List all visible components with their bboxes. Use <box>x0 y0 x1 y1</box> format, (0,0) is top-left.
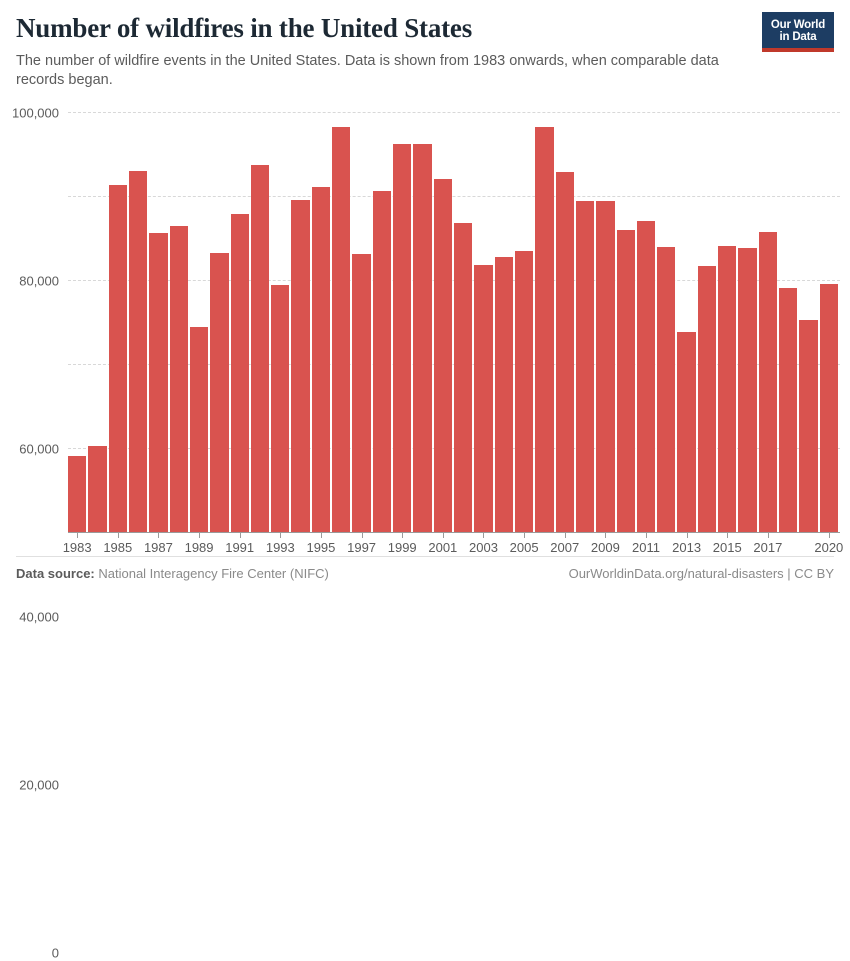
x-axis-tick-label: 1993 <box>266 540 295 555</box>
bar[interactable] <box>68 456 86 532</box>
x-axis-tick-label: 1999 <box>388 540 417 555</box>
x-axis-tick <box>687 532 688 538</box>
bar[interactable] <box>454 223 472 532</box>
chart-header: Number of wildfires in the United States… <box>16 12 756 90</box>
x-axis-tick <box>321 532 322 538</box>
x-axis-tick-label: 1997 <box>347 540 376 555</box>
x-axis-tick <box>77 532 78 538</box>
bar[interactable] <box>170 226 188 532</box>
x-axis-tick-label: 2013 <box>672 540 701 555</box>
x-axis-tick-label: 2005 <box>510 540 539 555</box>
x-axis-tick <box>240 532 241 538</box>
chart-footer: Data source: National Interagency Fire C… <box>16 566 834 581</box>
y-axis-tick-label: 0 <box>52 946 59 961</box>
bar[interactable] <box>617 230 635 532</box>
y-axis-tick-label: 60,000 <box>19 442 59 457</box>
bar[interactable] <box>373 191 391 532</box>
bar[interactable] <box>779 288 797 532</box>
page-title: Number of wildfires in the United States <box>16 12 756 44</box>
x-axis-tick <box>565 532 566 538</box>
chart-subtitle: The number of wildfire events in the Uni… <box>16 52 742 90</box>
footer-divider <box>16 556 834 557</box>
bar[interactable] <box>698 266 716 532</box>
x-axis-tick-label: 1983 <box>63 540 92 555</box>
x-axis-tick <box>158 532 159 538</box>
data-source: Data source: National Interagency Fire C… <box>16 566 329 581</box>
y-axis-tick-label: 100,000 <box>12 106 59 121</box>
owid-chart: Number of wildfires in the United States… <box>0 0 850 600</box>
bar[interactable] <box>129 171 147 532</box>
x-axis-tick <box>118 532 119 538</box>
x-axis-tick <box>443 532 444 538</box>
x-axis-tick-label: 1985 <box>103 540 132 555</box>
x-axis-tick-label: 2015 <box>713 540 742 555</box>
bar[interactable] <box>393 144 411 533</box>
bar[interactable] <box>657 247 675 532</box>
bar[interactable] <box>799 320 817 532</box>
x-axis-tick <box>727 532 728 538</box>
x-axis-tick-label: 2011 <box>632 540 660 555</box>
bar[interactable] <box>210 253 228 532</box>
data-source-value: National Interagency Fire Center (NIFC) <box>98 566 328 581</box>
logo-line-2: in Data <box>780 31 817 43</box>
bar[interactable] <box>515 251 533 532</box>
bar[interactable] <box>109 185 127 532</box>
x-axis-tick <box>605 532 606 538</box>
our-world-in-data-logo[interactable]: Our World in Data <box>762 12 834 52</box>
y-axis-tick-label: 40,000 <box>19 610 59 625</box>
bar[interactable] <box>190 327 208 532</box>
x-axis-tick-label: 2020 <box>814 540 843 555</box>
y-axis-tick-label: 80,000 <box>19 274 59 289</box>
logo-line-1: Our World <box>771 19 825 31</box>
attribution-link[interactable]: OurWorldinData.org/natural-disasters | C… <box>569 566 834 581</box>
x-axis-tick <box>829 532 830 538</box>
x-axis-tick-label: 2017 <box>753 540 782 555</box>
bar[interactable] <box>596 201 614 532</box>
bar[interactable] <box>312 187 330 532</box>
x-axis-tick <box>646 532 647 538</box>
bar[interactable] <box>474 265 492 532</box>
bar[interactable] <box>271 285 289 532</box>
bar[interactable] <box>738 248 756 532</box>
data-source-label: Data source: <box>16 566 95 581</box>
bar[interactable] <box>332 127 350 532</box>
x-axis-tick <box>402 532 403 538</box>
x-axis-tick-label: 2009 <box>591 540 620 555</box>
x-axis-tick <box>483 532 484 538</box>
x-axis-tick-label: 1995 <box>306 540 335 555</box>
x-axis: 1983198519871989199119931995199719992001… <box>68 532 840 556</box>
bar[interactable] <box>556 172 574 532</box>
x-axis-tick-label: 1991 <box>225 540 254 555</box>
bar[interactable] <box>759 232 777 532</box>
x-axis-tick <box>362 532 363 538</box>
bar[interactable] <box>495 257 513 532</box>
bar[interactable] <box>291 200 309 532</box>
x-axis-tick <box>280 532 281 538</box>
x-axis-tick <box>768 532 769 538</box>
bar[interactable] <box>434 179 452 532</box>
plot-area: 020,00040,00060,00080,000100,000 1983198… <box>0 103 850 555</box>
bar[interactable] <box>88 446 106 532</box>
bar[interactable] <box>231 214 249 532</box>
bar[interactable] <box>718 246 736 532</box>
bar[interactable] <box>677 332 695 532</box>
bar[interactable] <box>413 144 431 532</box>
bar[interactable] <box>149 233 167 532</box>
plot-inner: 020,00040,00060,00080,000100,000 <box>68 112 840 532</box>
x-axis-tick-label: 2003 <box>469 540 498 555</box>
x-axis-tick-label: 2007 <box>550 540 579 555</box>
bar[interactable] <box>535 127 553 532</box>
bar[interactable] <box>251 165 269 532</box>
x-axis-tick <box>199 532 200 538</box>
bar[interactable] <box>820 284 838 532</box>
x-axis-tick-label: 1989 <box>185 540 214 555</box>
bar[interactable] <box>352 254 370 532</box>
x-axis-tick <box>524 532 525 538</box>
x-axis-tick-label: 2001 <box>428 540 457 555</box>
bar[interactable] <box>576 201 594 532</box>
y-axis-tick-label: 20,000 <box>19 778 59 793</box>
bars-layer <box>68 112 840 532</box>
x-axis-tick-label: 1987 <box>144 540 173 555</box>
bar[interactable] <box>637 221 655 532</box>
